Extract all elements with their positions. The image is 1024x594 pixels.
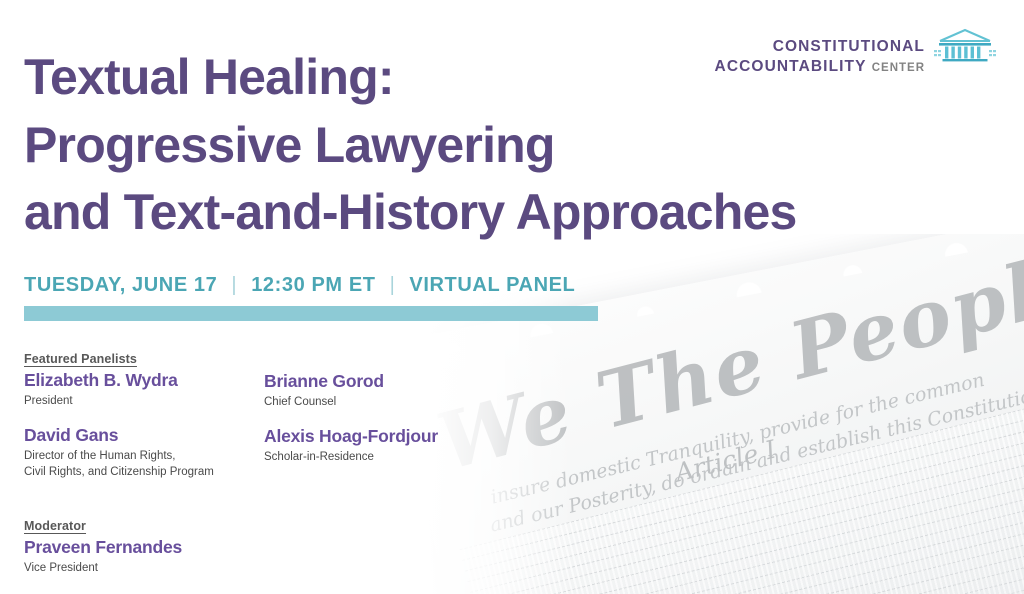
person-title: President [24, 393, 264, 409]
preamble-line-b: and our Posterity, do ordain and establi… [488, 382, 1024, 536]
person-name: Elizabeth B. Wydra [24, 370, 264, 392]
list-item: David Gans Director of the Human Rights,… [24, 425, 264, 481]
panelists-column-left: Featured Panelists Elizabeth B. Wydra Pr… [24, 352, 264, 497]
event-format: VIRTUAL PANEL [409, 274, 575, 297]
list-item: Brianne Gorod Chief Counsel [264, 371, 484, 410]
person-name: Brianne Gorod [264, 371, 484, 393]
person-name: David Gans [24, 425, 264, 447]
featured-panelists-label: Featured Panelists [24, 352, 264, 366]
preamble-line-a: insure domestic Tranquility, provide for… [489, 369, 987, 509]
person-title: Chief Counsel [264, 394, 484, 410]
list-item: Praveen Fernandes Vice President [24, 537, 484, 576]
article-label: Article I [672, 434, 779, 487]
people-section: Featured Panelists Elizabeth B. Wydra Pr… [24, 352, 484, 592]
person-name: Praveen Fernandes [24, 537, 484, 559]
person-title: Vice President [24, 560, 484, 576]
parchment-body-text [459, 399, 1024, 594]
event-poster: We The People insure domestic Tranquilit… [0, 0, 1024, 594]
page-title: Textual Healing: Progressive Lawyering a… [24, 44, 954, 247]
person-title: Scholar-in-Residence [264, 449, 484, 465]
headline-line-2: Progressive Lawyering [24, 112, 954, 180]
we-the-people-heading: We The People [429, 234, 1024, 488]
event-separator-2: | [390, 274, 396, 297]
moderator-section: Moderator Praveen Fernandes Vice Preside… [24, 519, 484, 576]
event-details: TUESDAY, JUNE 17 | 12:30 PM ET | VIRTUAL… [24, 274, 575, 297]
person-name: Alexis Hoag-Fordjour [264, 426, 484, 448]
list-item: Alexis Hoag-Fordjour Scholar-in-Residenc… [264, 426, 484, 465]
person-title: Director of the Human Rights, Civil Righ… [24, 448, 264, 481]
headline-line-3: and Text-and-History Approaches [24, 179, 954, 247]
event-time: 12:30 PM ET [251, 274, 375, 297]
event-separator-1: | [231, 274, 237, 297]
panelists-column-right: Brianne Gorod Chief Counsel Alexis Hoag-… [264, 352, 484, 497]
list-item: Elizabeth B. Wydra President [24, 370, 264, 409]
accent-rule [24, 306, 598, 321]
moderator-label: Moderator [24, 519, 484, 533]
parchment-torn-edge [424, 234, 1024, 363]
event-date: TUESDAY, JUNE 17 [24, 274, 217, 297]
headline-line-1: Textual Healing: [24, 44, 954, 112]
